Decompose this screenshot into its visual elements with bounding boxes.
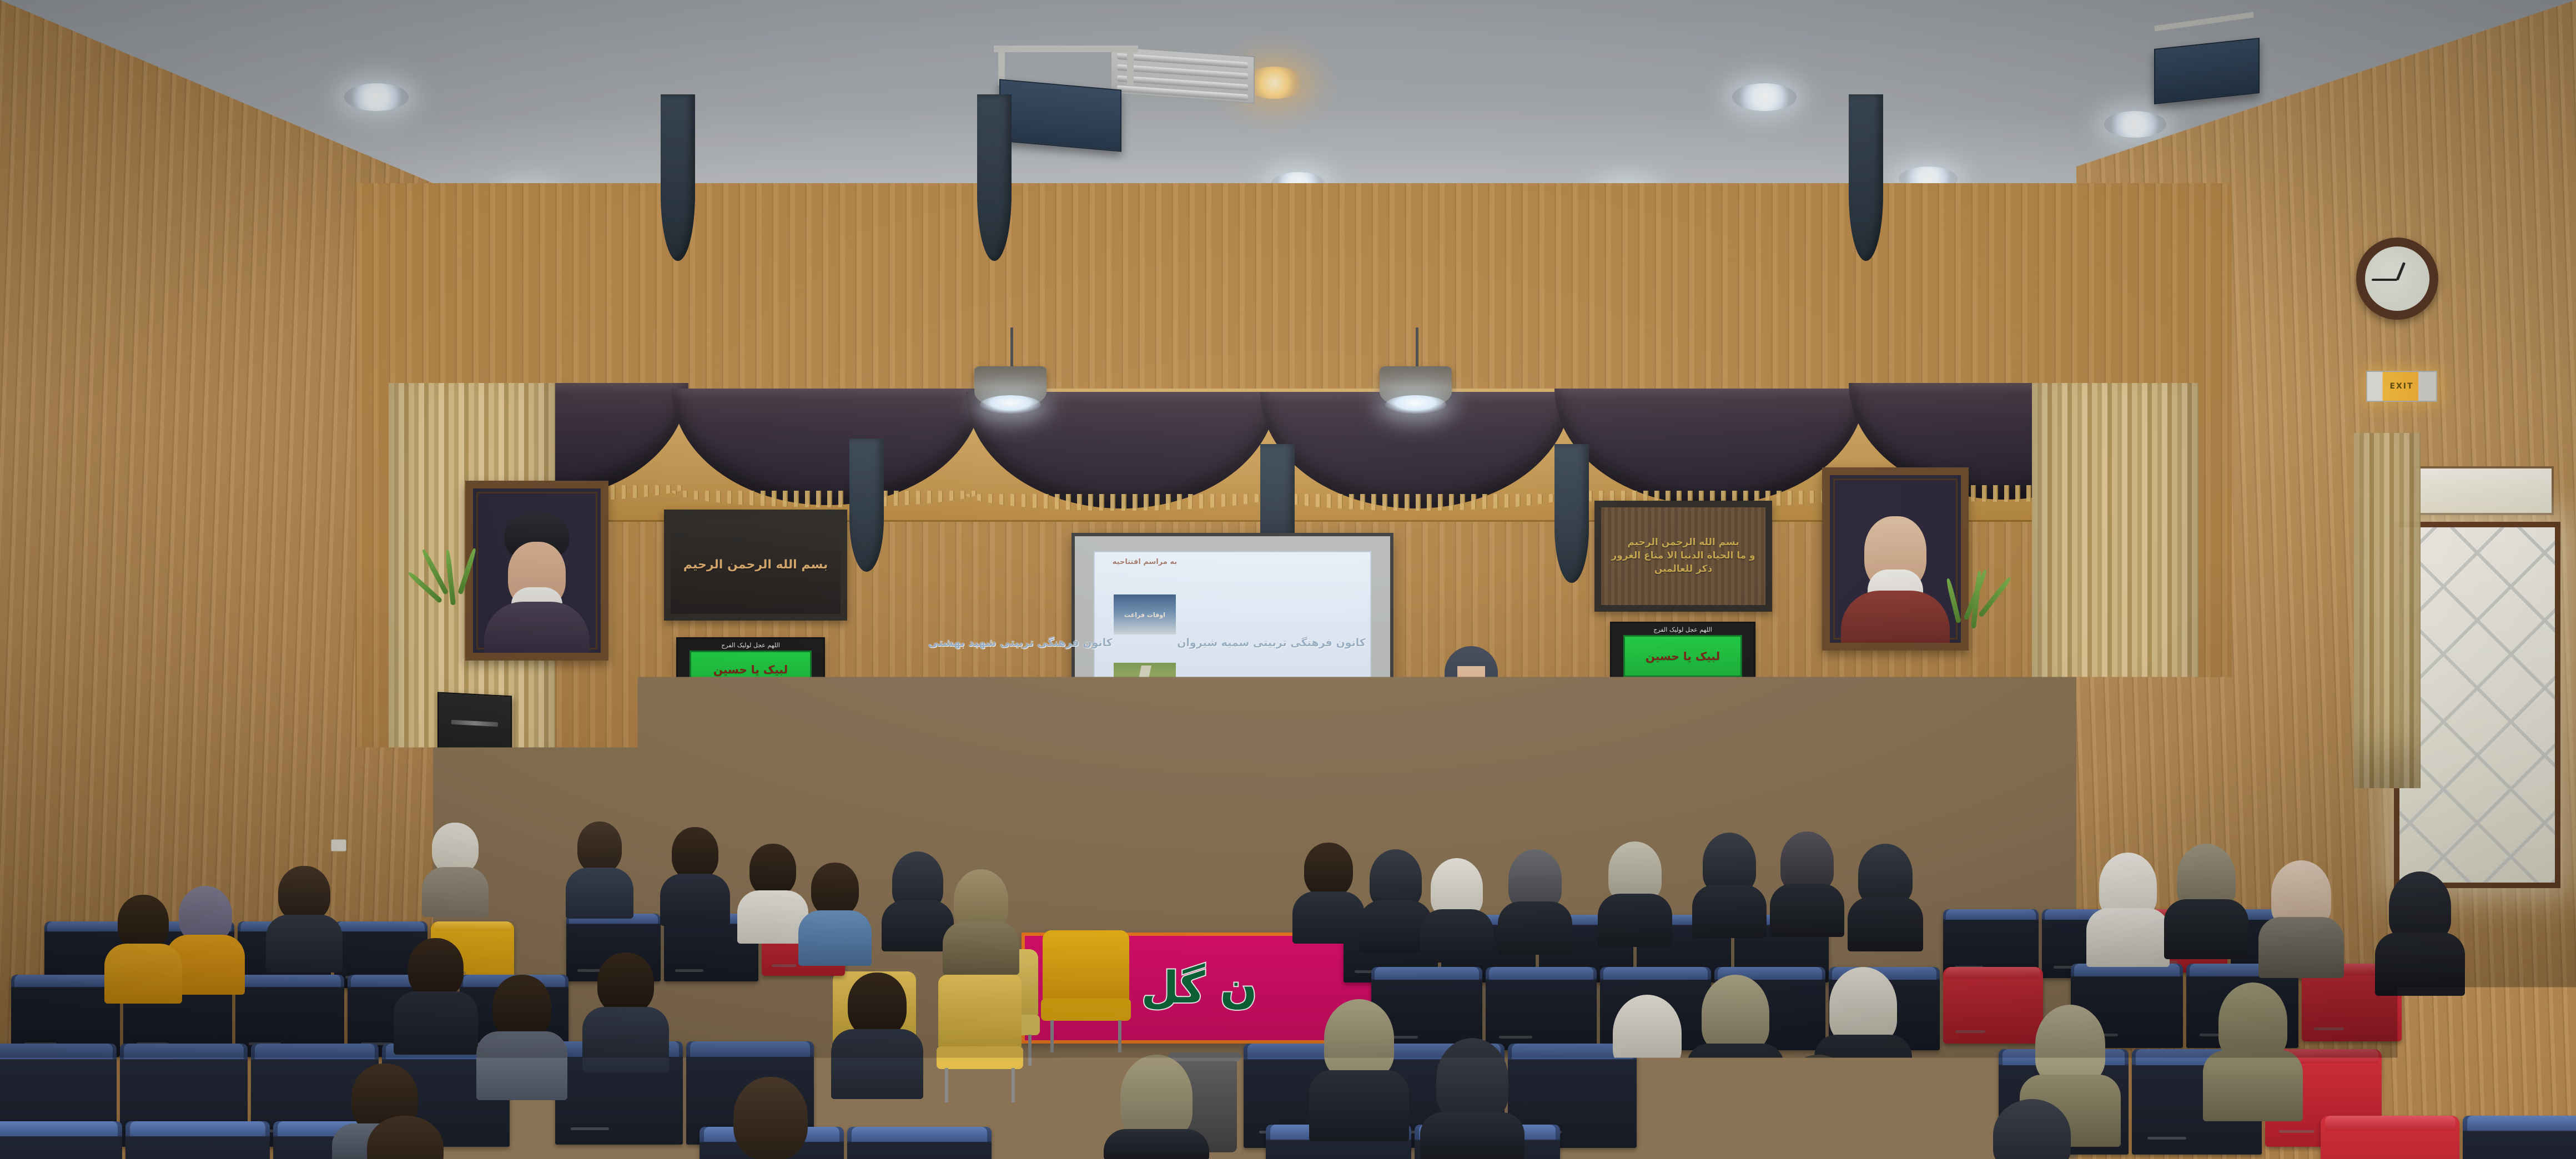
- pendant-light-glow: [1385, 395, 1446, 414]
- taskbar-status-field: [1327, 763, 1366, 768]
- shoulders: [476, 1031, 567, 1100]
- audience-member: [738, 844, 807, 944]
- audience-member: [566, 822, 633, 919]
- slide-bottom-text: خوش آمدید: [1125, 719, 1165, 728]
- head-hijab: [1436, 1038, 1508, 1120]
- head-hijab: [1324, 999, 1394, 1078]
- shoulders: [1420, 909, 1493, 963]
- slide-taskbar[interactable]: [1094, 759, 1371, 773]
- head: [811, 863, 859, 916]
- shoulders: [2086, 908, 2170, 967]
- head-hijab: [1431, 858, 1483, 917]
- head-with-cap: [179, 886, 232, 943]
- wall-outlet[interactable]: [331, 839, 346, 851]
- downlight: [344, 83, 409, 111]
- green-banner-right: اللهم عجل لولیک الفرج لبیک یا حسین این خ…: [1610, 622, 1755, 691]
- clock-minute-hand: [2372, 279, 2397, 281]
- green-banner-main-text: لبیک یا حسین: [713, 663, 788, 676]
- audience-member: [422, 823, 489, 917]
- slide-center: به مراسم افتتاحیه اوقات فراغت خوش آمدید: [1113, 558, 1177, 728]
- clock-hour-hand: [2396, 262, 2406, 280]
- shoulders: [2258, 917, 2344, 978]
- head-hijab: [2218, 982, 2287, 1060]
- audience-member: [1499, 849, 1571, 955]
- shoulders: [2164, 899, 2248, 959]
- audience-member: [1976, 1099, 2087, 1159]
- wall-sign-leisure-classes: کلاس های اوقات فراغت: [1393, 777, 1493, 802]
- exit-sign-label: EXIT: [2389, 382, 2413, 391]
- side-curtain-right: [2032, 383, 2198, 883]
- chair-leg: [1118, 1020, 1121, 1052]
- audience-member: [799, 863, 871, 966]
- taskbar-icon[interactable]: [1185, 763, 1190, 768]
- potted-plant-left: [427, 544, 477, 655]
- shoulders: [943, 921, 1019, 975]
- teddy-body: [1873, 1118, 1919, 1159]
- head-hijab: [1781, 1055, 1855, 1139]
- green-banner-top-text: اللهم عجل لولیک الفرج: [1653, 626, 1712, 633]
- seat-row: [2321, 1116, 2576, 1159]
- shoulders: [737, 890, 808, 944]
- head: [408, 938, 464, 998]
- chair-back: [938, 975, 1022, 1049]
- audience-member: [1765, 1055, 1871, 1159]
- head: [597, 953, 654, 1014]
- head: [278, 866, 330, 921]
- teddy-ear: [1905, 1089, 1914, 1098]
- curtain-jabot: [1849, 94, 1883, 261]
- audience-member: [266, 866, 342, 972]
- projected-slide: کانون فرهنگی تربیتی سمیه شیروان به مراسم…: [1094, 551, 1371, 734]
- balloon-navy: [1117, 873, 1175, 937]
- shoulders: [1848, 897, 1923, 951]
- shoulders: [1770, 884, 1844, 937]
- head: [577, 822, 622, 873]
- green-banner-main-text: لبیک یا حسین: [1646, 649, 1720, 663]
- seat[interactable]: [847, 1127, 992, 1159]
- projector-bracket-leg: [1127, 46, 1134, 85]
- audience-member: [477, 975, 566, 1100]
- taskbar-icon[interactable]: [1202, 763, 1207, 768]
- head: [672, 827, 718, 879]
- green-banner-field: لبیک یا حسین: [1623, 635, 1743, 677]
- wall-sign-opening: افتتاحیه: [1413, 738, 1502, 773]
- head-hijab: [1702, 975, 1769, 1051]
- audience-member: [2376, 871, 2464, 996]
- shoulders: [831, 1029, 923, 1099]
- plastic-chair-yellow[interactable]: [1043, 930, 1129, 1052]
- robe-shape: [1841, 591, 1950, 643]
- downlight: [2104, 111, 2166, 138]
- head-hijab: [1993, 1099, 2071, 1159]
- shoulders: [1104, 1129, 1209, 1159]
- teddy-bear-toy: [1865, 1088, 1926, 1159]
- head: [432, 823, 479, 874]
- audience-member: [1294, 843, 1364, 944]
- chair-leg: [1050, 1020, 1054, 1052]
- portrait-khamenei: [465, 481, 608, 661]
- audience-member: [661, 827, 729, 926]
- shoulders: [1598, 1065, 1697, 1136]
- head: [118, 895, 169, 950]
- pendant-light-glow: [980, 395, 1041, 414]
- audience-member: [2087, 853, 2169, 967]
- seat-red[interactable]: [2321, 1116, 2459, 1159]
- heart-icon: [1134, 810, 1148, 823]
- shoulders: [566, 868, 633, 919]
- slide-right-column: کانون فرهنگی تربیتی سمیه شیروان: [1177, 558, 1366, 728]
- shoulders: [1598, 894, 1672, 947]
- audience-member: [2204, 982, 2302, 1121]
- curtain-jabot: [661, 94, 695, 261]
- audience-member: [1599, 841, 1671, 947]
- taskbar-icon[interactable]: [1219, 763, 1224, 768]
- shoulders: [1764, 1129, 1872, 1159]
- taskbar-icon[interactable]: [1194, 763, 1199, 768]
- audience-member: [1421, 858, 1492, 963]
- wall-pa-speaker: [437, 692, 512, 784]
- green-banner-bottom-text: این خانه عزادار حسین است: [1647, 679, 1718, 686]
- chair-seat: [1041, 999, 1131, 1021]
- shoulders: [660, 874, 730, 926]
- green-banner-left: اللهم عجل لولیک الفرج لبیک یا حسین این خ…: [676, 637, 825, 702]
- balloon-white: [1199, 823, 1251, 881]
- shoulders: [2375, 933, 2465, 996]
- downlight: [1732, 83, 1797, 111]
- head: [367, 1116, 444, 1159]
- head: [749, 844, 796, 896]
- head-hijab: [1613, 995, 1682, 1072]
- head-hijab: [1858, 844, 1913, 905]
- teddy-ear: [1878, 1089, 1886, 1098]
- head: [492, 975, 551, 1039]
- head-hijab: [2389, 871, 2451, 941]
- ceiling-projector-main: [999, 79, 1121, 152]
- plaque-right-text: بسم الله الرحمن الرحیم و ما الحیاة الدنی…: [1611, 536, 1755, 576]
- seat[interactable]: [125, 1121, 270, 1159]
- plant-leaf: [445, 550, 456, 605]
- exit-sign: EXIT: [2366, 371, 2437, 402]
- audience-member: [350, 1116, 461, 1159]
- slide-image-field: [1114, 663, 1176, 692]
- taskbar-icon[interactable]: [1177, 763, 1182, 768]
- balloon-red: [1087, 822, 1138, 879]
- shoulders: [104, 944, 182, 1004]
- plant-leaf: [457, 548, 477, 595]
- projector-bracket: [994, 46, 1138, 52]
- chair-leg: [945, 1068, 948, 1102]
- head-hijab: [1508, 849, 1562, 909]
- audience-member: [1105, 1055, 1208, 1159]
- curtain-jabot: [977, 94, 1012, 261]
- green-banner-field: لبیک یا حسین: [690, 651, 812, 688]
- slide-left-column: کانون فرهنگی تربیتی شهید بهشتی: [928, 558, 1113, 728]
- head: [733, 1077, 808, 1159]
- head-hijab: [1120, 1055, 1193, 1138]
- head-hijab: [1370, 849, 1422, 908]
- stage-banner-text: ن گل: [1141, 963, 1257, 1013]
- audience-member: [583, 953, 668, 1072]
- audience-member: [105, 895, 181, 1004]
- plastic-chair-yellow[interactable]: [938, 975, 1022, 1102]
- curtain-jabot: [849, 439, 884, 572]
- balloon-navy: [1176, 874, 1232, 937]
- taskbar-icon[interactable]: [1210, 763, 1215, 768]
- curtain-jabot: [1554, 444, 1589, 583]
- shoulders: [2203, 1050, 2303, 1121]
- ceiling-projector-right: [2154, 38, 2260, 104]
- window-security-grille: [2399, 527, 2555, 883]
- head-hijab: [2035, 1005, 2105, 1084]
- shoulders: [266, 915, 343, 972]
- audience-member: [2260, 860, 2343, 978]
- slide-image-sky: اوقات فراغت: [1114, 594, 1176, 634]
- clock-face: [2365, 246, 2429, 310]
- green-banner-top-text: اللهم عجل لولیک الفرج: [721, 642, 780, 649]
- head-hijab: [1829, 967, 1897, 1044]
- audience-member: [716, 1077, 825, 1159]
- head: [1304, 843, 1353, 897]
- pendant-light-rod: [1416, 327, 1418, 372]
- chair-leg: [1028, 1035, 1032, 1066]
- chair-back: [1043, 930, 1129, 1001]
- head-hijab: [1703, 833, 1756, 893]
- audience-member: [1849, 844, 1922, 951]
- audience-member: [1421, 1038, 1523, 1159]
- balloon-navy: [1058, 871, 1116, 936]
- plant-leaf: [1945, 578, 1961, 623]
- head-hijab: [1608, 841, 1662, 901]
- calligraphy-plaque-left: بسم الله الرحمن الرحیم: [664, 510, 847, 621]
- wall-control-box: [905, 747, 935, 800]
- balloon-navy: [1230, 871, 1287, 935]
- audience-member: [944, 869, 1018, 975]
- audience-member: [1599, 995, 1695, 1136]
- wall-clock: [2356, 238, 2438, 320]
- robe-shape: [484, 602, 590, 653]
- seat[interactable]: [0, 1121, 122, 1159]
- window-transom: [2414, 466, 2554, 515]
- audience-member: [883, 851, 953, 951]
- shoulders: [1420, 1112, 1525, 1159]
- window-curtain: [2354, 433, 2421, 788]
- chair-seat: [937, 1046, 1023, 1069]
- taskbar-address-field[interactable]: [1107, 763, 1174, 768]
- projection-screen: کانون فرهنگی تربیتی سمیه شیروان به مراسم…: [1071, 533, 1393, 794]
- audience-member: [833, 972, 922, 1099]
- slide-top-text: به مراسم افتتاحیه: [1113, 558, 1177, 566]
- shoulders: [394, 991, 478, 1055]
- auditorium-scene: بسم الله الرحمن الرحیم اللهم عجل لولیک ا…: [0, 0, 2576, 1159]
- pendant-light-rod: [1010, 327, 1013, 372]
- seat[interactable]: [2463, 1116, 2576, 1159]
- audience-member: [1771, 832, 1843, 937]
- shoulders: [582, 1007, 669, 1072]
- audience-member: [394, 938, 477, 1055]
- green-banner-bottom-text: این خانه عزادار حسین است: [715, 690, 786, 697]
- shoulders: [1309, 1070, 1409, 1141]
- shoulders: [1498, 901, 1572, 955]
- shoulders: [1692, 885, 1767, 938]
- plaque-left-text: بسم الله الرحمن الرحیم: [683, 557, 828, 574]
- audience-member: [1693, 833, 1765, 938]
- shoulders: [422, 867, 489, 917]
- audience-member: [2165, 844, 2247, 959]
- taskbar-icon[interactable]: [1099, 763, 1104, 768]
- audience-member: [1310, 999, 1408, 1141]
- calligraphy-plaque-right: بسم الله الرحمن الرحیم و ما الحیاة الدنی…: [1594, 501, 1772, 612]
- head-hijab: [1780, 832, 1834, 891]
- head: [848, 972, 907, 1037]
- chair-leg: [1012, 1068, 1015, 1102]
- potted-plant-right: [1941, 566, 2002, 683]
- slide-image-caption: اوقات فراغت: [1124, 612, 1165, 619]
- shoulders: [1292, 891, 1365, 944]
- wall-outlet[interactable]: [1663, 832, 1678, 843]
- shoulders: [798, 910, 872, 966]
